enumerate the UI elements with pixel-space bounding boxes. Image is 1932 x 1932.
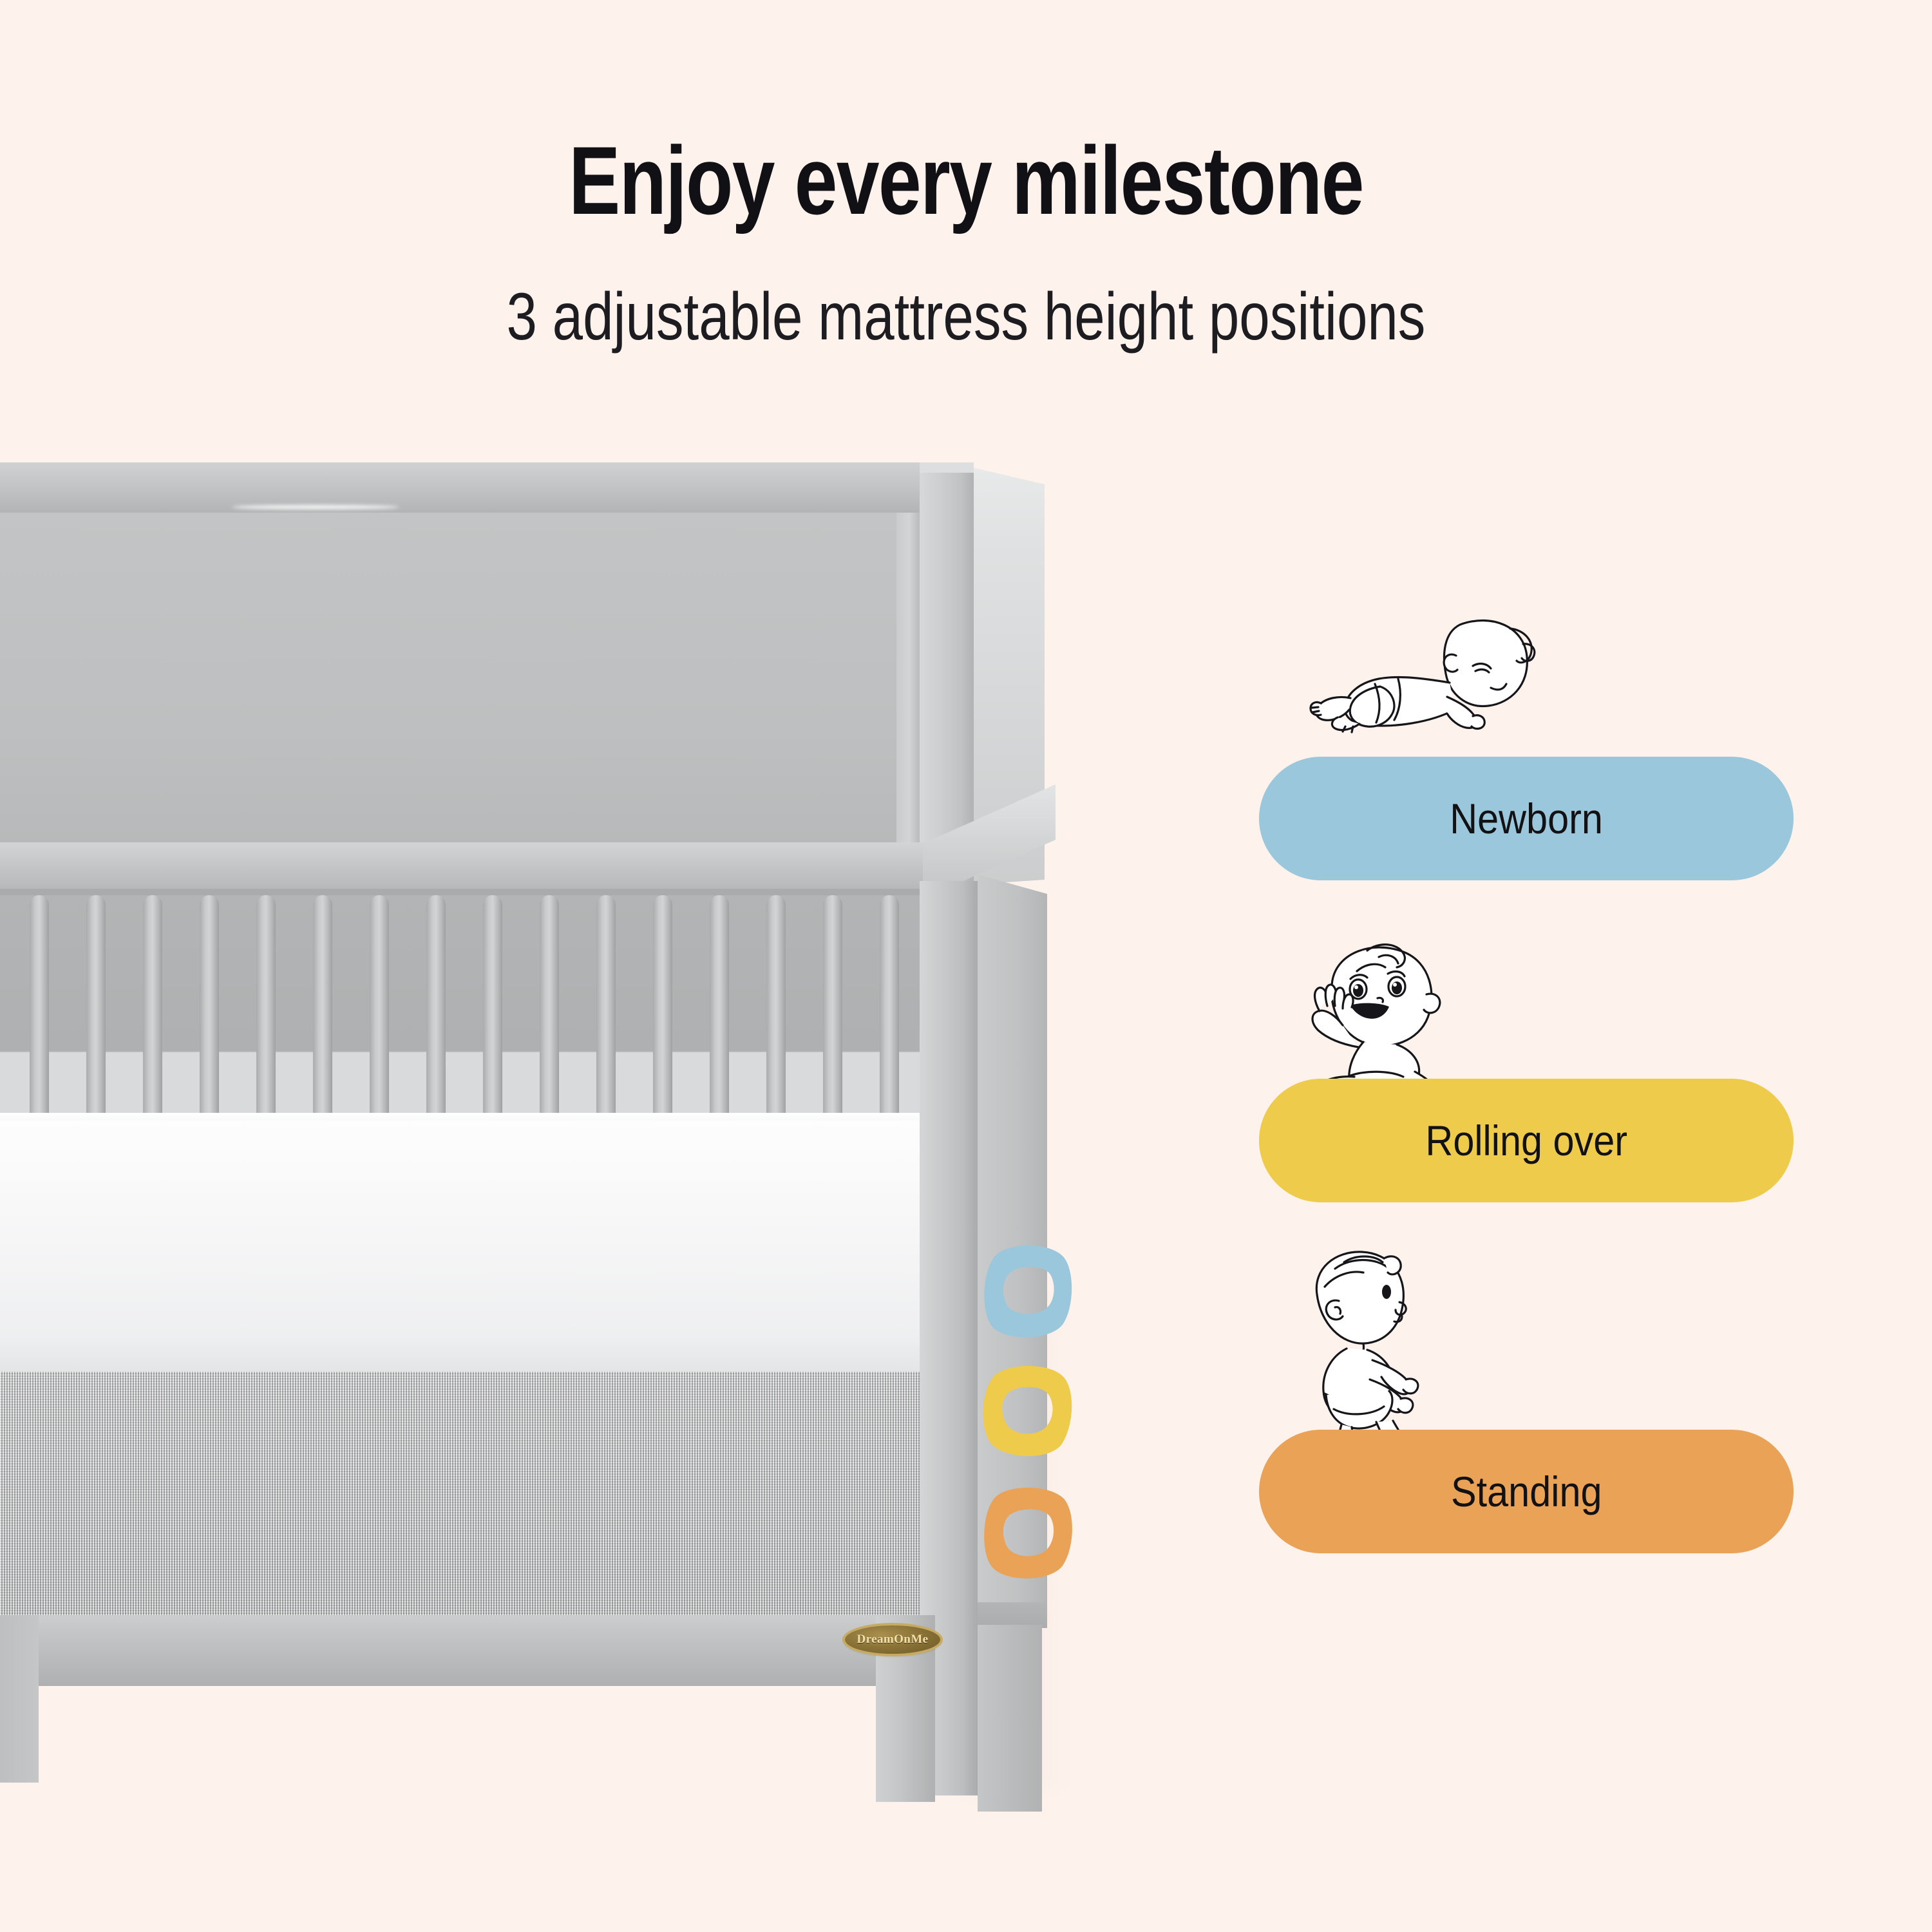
infographic-canvas: Enjoy every milestone 3 adjustable mattr… bbox=[0, 0, 1932, 1932]
standing-label: Standing bbox=[1451, 1470, 1602, 1513]
brand-badge-label: DreamOnMe bbox=[857, 1633, 929, 1647]
crib-product-image: DreamOnMe bbox=[0, 462, 1121, 1847]
newborn-label: Newborn bbox=[1450, 797, 1603, 840]
crib-headboard-highlight bbox=[232, 505, 399, 509]
crib-headboard-panel bbox=[0, 513, 918, 880]
crib-corner-post-cap bbox=[920, 462, 974, 473]
crib-front-top-rail bbox=[0, 842, 927, 895]
crib-mattress bbox=[0, 1121, 927, 1372]
milestone-list: Newborn bbox=[1259, 683, 1839, 1584]
baby-lying-icon bbox=[1298, 607, 1568, 755]
standing-pill[interactable]: Standing bbox=[1259, 1430, 1794, 1553]
rolling-over-pill[interactable]: Rolling over bbox=[1259, 1079, 1794, 1202]
crib-leg-side bbox=[978, 1625, 1042, 1812]
rolling-over-marker-ring bbox=[974, 1359, 1082, 1462]
crib-corner-post-upper bbox=[920, 462, 974, 884]
newborn-pill[interactable]: Newborn bbox=[1259, 757, 1794, 880]
page-title: Enjoy every milestone bbox=[193, 132, 1739, 229]
crib-leg-left bbox=[0, 1615, 39, 1783]
crib-bottom-rail bbox=[0, 1615, 935, 1686]
crib-headboard-edge bbox=[896, 513, 920, 880]
brand-badge: DreamOnMe bbox=[845, 1625, 940, 1654]
page-subtitle: 3 adjustable mattress height positions bbox=[174, 283, 1758, 350]
crib-headboard-top-rail bbox=[0, 462, 966, 513]
crib-side-panel-base bbox=[978, 1602, 1047, 1628]
mattress-height-markers bbox=[974, 1240, 1096, 1591]
standing-marker-ring bbox=[974, 1481, 1082, 1584]
newborn-marker-ring bbox=[974, 1240, 1082, 1343]
crib-fabric-skirt bbox=[0, 1372, 927, 1623]
rolling-over-label: Rolling over bbox=[1425, 1119, 1627, 1162]
